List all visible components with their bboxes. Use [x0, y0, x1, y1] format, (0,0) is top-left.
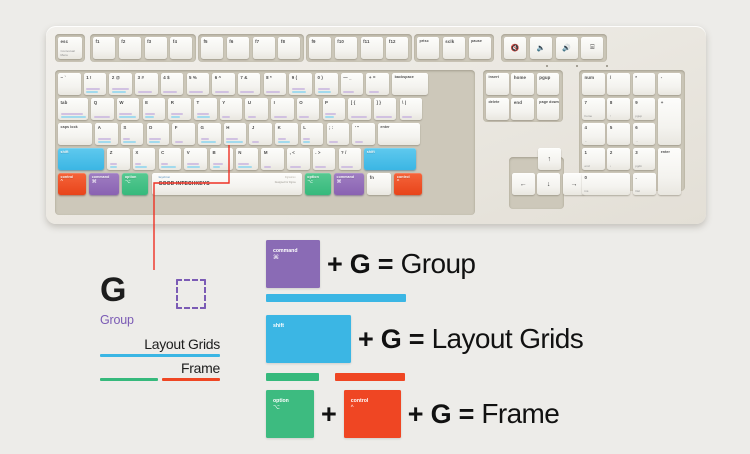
key-hint-bar-1 [163, 91, 177, 93]
key-label: f4 [173, 39, 177, 44]
key-[interactable]: + = [366, 73, 389, 95]
legend-layout-grids-bar [100, 354, 220, 358]
key-control[interactable]: control^ [394, 173, 422, 195]
formula-key-control-symbol: ^ [351, 405, 354, 411]
key-hint-bar-1 [299, 116, 309, 118]
key-f2[interactable]: f2 [119, 37, 141, 59]
formula-result-3: Frame [481, 400, 559, 428]
key-1[interactable]: 1end [582, 148, 605, 170]
key-end[interactable]: end [511, 98, 534, 120]
key-[interactable]: — _ [341, 73, 364, 95]
key-hint-bar-1 [145, 113, 155, 115]
key-label: sclk [445, 39, 454, 44]
key-[interactable]: .Del [633, 173, 656, 195]
key-label: prtsc [420, 39, 429, 44]
key-tab[interactable]: tab [58, 98, 88, 120]
key-symbol: ⌥ [125, 180, 131, 185]
key-label: Q [94, 100, 98, 105]
key-f1[interactable]: f1 [93, 37, 115, 59]
key-k[interactable]: K [275, 123, 298, 145]
key-label: esc [61, 39, 69, 44]
key-2[interactable]: 2 @ [109, 73, 132, 95]
key-[interactable]: ? / [339, 148, 362, 170]
key-hint-bar-1 [329, 141, 338, 143]
key-hint-bar-1 [171, 113, 183, 115]
key-f5[interactable]: f5 [201, 37, 223, 59]
key-sublabel: end [585, 164, 590, 168]
key-label: pgup [539, 75, 550, 80]
key-f7[interactable]: f7 [253, 37, 275, 59]
key-label: tab [61, 100, 68, 105]
key-label: f9 [312, 39, 316, 44]
key-hint-bar-1 [292, 88, 305, 90]
group-dashed-box-icon [176, 279, 206, 309]
key-[interactable]: . > [313, 148, 336, 170]
key-[interactable]: ; : [327, 123, 350, 145]
key-label: ; : [329, 125, 333, 130]
key-3[interactable]: 3pgdn [633, 148, 656, 170]
key-enter[interactable]: enter [658, 148, 681, 195]
key-[interactable]: ' " [352, 123, 375, 145]
key-hint-bar-1 [318, 88, 330, 90]
key-f9[interactable]: f9 [309, 37, 331, 59]
legend-block: G Group Layout Grids Frame [100, 274, 220, 381]
key-p[interactable]: P [323, 98, 346, 120]
key-label: delete [489, 100, 500, 105]
key-label: K [278, 125, 281, 130]
key-s[interactable]: S [121, 123, 144, 145]
key-label: 3 [635, 150, 638, 155]
formula-key-option-label: option [273, 398, 289, 404]
key-hint-bar-1 [369, 91, 379, 93]
formula-key-command-label: command [273, 248, 298, 254]
key-hint-bar-2 [61, 116, 86, 118]
accent-bar-layout-grids [266, 294, 406, 302]
key-q[interactable]: Q [91, 98, 114, 120]
key-label: ~ ` [61, 75, 67, 80]
key-label: 9 [635, 100, 638, 105]
key-x[interactable]: X [133, 148, 156, 170]
key-label: ] } [376, 100, 381, 105]
key-sublabel: ↑ [610, 114, 612, 118]
key-hint-bar-2 [303, 141, 310, 143]
key-label: 0 ) [318, 75, 323, 80]
key-label: caps lock [61, 125, 78, 130]
key-hint-bar-1 [274, 116, 287, 118]
formula-group: command ⌘ + G = Group [266, 240, 475, 288]
key-label: 7 & [240, 75, 247, 80]
key-r[interactable]: R [168, 98, 191, 120]
key-2[interactable]: 2↓ [607, 148, 630, 170]
key-[interactable]: ] } [374, 98, 397, 120]
key-hint-bar-1 [290, 166, 301, 168]
key-hint-bar-2 [201, 141, 216, 143]
key-n[interactable]: N [236, 148, 259, 170]
key-hint-bar-1 [315, 166, 326, 168]
formula-result-1: Group [401, 250, 476, 278]
key-hint-bar-1 [248, 116, 256, 118]
key-label: 4 $ [163, 75, 169, 80]
formula-key-command[interactable]: command ⌘ [266, 240, 320, 288]
key-[interactable]: ↓ [537, 173, 560, 195]
key-hint-bar-2 [119, 116, 136, 118]
key-g[interactable]: G [198, 123, 221, 145]
key-m[interactable]: M [261, 148, 284, 170]
key-5[interactable]: 5 % [187, 73, 210, 95]
key-caps-lock[interactable]: caps lock [58, 123, 92, 145]
key-pause[interactable]: pause [469, 37, 491, 59]
key-symbol: ⌘ [92, 180, 97, 185]
key-label: U [248, 100, 251, 105]
key-d[interactable]: D [147, 123, 170, 145]
key-label: 0 [585, 175, 588, 180]
key-hint-bar-1 [355, 141, 363, 143]
key-hint-bar-1 [213, 163, 223, 165]
key-pgup[interactable]: pgup [537, 73, 560, 95]
screenshot-icon: ⌸ [581, 37, 603, 59]
key-0[interactable]: 0 ) [315, 73, 338, 95]
key-num[interactable]: num [582, 73, 605, 95]
key-hint-bar-2 [197, 116, 210, 118]
key-hint-bar-1 [135, 163, 141, 165]
formula-result-2: Layout Grids [432, 325, 584, 353]
key-label: 9 ( [292, 75, 297, 80]
key-sublabel: home [585, 114, 593, 118]
key-f3[interactable]: f3 [145, 37, 167, 59]
indicator-led-1 [576, 65, 578, 67]
key-label: , < [290, 150, 295, 155]
key-l[interactable]: L [301, 123, 324, 145]
key-label: G [201, 125, 205, 130]
key-label: . > [315, 150, 320, 155]
key-8[interactable]: 8↑ [607, 98, 630, 120]
key-label: f11 [363, 39, 369, 44]
key-hint-bar-1 [278, 138, 286, 140]
key-t[interactable]: T [194, 98, 217, 120]
key-[interactable]: \ | [400, 98, 423, 120]
key-hint-bar-1 [161, 163, 168, 165]
key-f8[interactable]: f8 [278, 37, 300, 59]
key-3[interactable]: 3 # [135, 73, 158, 95]
key-4[interactable]: 4 $ [161, 73, 184, 95]
key-label: 1 ! [86, 75, 91, 80]
key-c[interactable]: C [159, 148, 182, 170]
key-b[interactable]: B [210, 148, 233, 170]
key-sublabel: Contextual Menu [61, 49, 83, 57]
key-[interactable]: 🔊 [556, 37, 578, 59]
key-label: A [98, 125, 101, 130]
key-sublabel: ins [585, 189, 589, 193]
key-hint-bar-1 [189, 91, 203, 93]
key-hint-bar-1 [264, 166, 271, 168]
key-label: insert [489, 75, 499, 80]
key-sublabel: Del [636, 189, 641, 193]
key-f12[interactable]: f12 [386, 37, 408, 59]
key-hint-bar-1 [175, 141, 183, 143]
key-label: — _ [343, 75, 351, 80]
key-hint-bar-1 [119, 113, 132, 115]
key-[interactable]: [ { [348, 98, 371, 120]
key-f6[interactable]: f6 [227, 37, 249, 59]
formula-plus-3a: + [321, 401, 337, 428]
key-label: T [197, 100, 200, 105]
key-hint-bar-2 [213, 166, 220, 168]
key-option[interactable]: option⌥ [122, 173, 148, 195]
key-label: 4 [585, 125, 588, 130]
formula-equals-3: = [459, 401, 475, 428]
key-j[interactable]: J [249, 123, 272, 145]
key-label: H [226, 125, 229, 130]
key-label: end [514, 100, 522, 105]
key-9[interactable]: 9pgup [633, 98, 656, 120]
key-e[interactable]: E [143, 98, 166, 120]
key-label: page down [539, 100, 559, 105]
key-label: 2 [610, 150, 613, 155]
key-label: f7 [255, 39, 259, 44]
key-hint-bar-1 [238, 163, 249, 165]
key-label: f1 [96, 39, 100, 44]
key-0[interactable]: 0ins [582, 173, 630, 195]
key-label: f12 [389, 39, 396, 44]
key-f10[interactable]: f10 [335, 37, 357, 59]
key-symbol: ^ [61, 180, 63, 185]
key-label: J [252, 125, 255, 130]
key-label: shift [367, 150, 375, 155]
key-sublabel: ← [585, 139, 588, 143]
key-v[interactable]: V [184, 148, 207, 170]
key-6[interactable]: 6→ [633, 123, 656, 145]
legend-frame-label: Frame [100, 361, 220, 376]
key-label: f3 [147, 39, 151, 44]
arrow-up-icon: ↑ [538, 148, 561, 170]
key-label: F [175, 125, 178, 130]
key-[interactable]: / [607, 73, 630, 95]
key-sublabel: ↓ [610, 164, 612, 168]
key-[interactable]: 🔇 [504, 37, 526, 59]
key-hint-bar-1 [341, 166, 353, 168]
key-label: f8 [281, 39, 285, 44]
key-[interactable]: ↑ [538, 148, 561, 170]
key-hint-bar-2 [238, 166, 252, 168]
key-symbol: ⌘ [337, 180, 342, 185]
volume-mute-icon: 🔇 [504, 37, 526, 59]
key-i[interactable]: I [271, 98, 294, 120]
key-hint-bar-1 [215, 91, 229, 93]
key-shift[interactable]: shift [58, 148, 104, 170]
key-home[interactable]: home [511, 73, 534, 95]
key-z[interactable]: Z [107, 148, 130, 170]
key-control[interactable]: control^ [58, 173, 86, 195]
key-f[interactable]: F [172, 123, 195, 145]
key-4[interactable]: 4← [582, 123, 605, 145]
key-w[interactable]: W [117, 98, 140, 120]
key-enter[interactable]: enter [378, 123, 420, 145]
key-8[interactable]: 8 * [264, 73, 287, 95]
key-hint-bar-2 [110, 166, 117, 168]
key-label: [ { [351, 100, 356, 105]
key-label: S [123, 125, 126, 130]
key-label: ' " [355, 125, 360, 130]
key-hint-bar-1 [402, 116, 412, 118]
key-label: f5 [204, 39, 208, 44]
key-label: E [145, 100, 148, 105]
formula-key-shift[interactable]: shift [266, 315, 351, 363]
legend-group-label: Group [100, 313, 220, 327]
key-label: 6 ^ [215, 75, 222, 80]
formula-key-control-label: control [351, 398, 369, 404]
key-fn[interactable]: fn [367, 173, 391, 195]
key-[interactable]: * [633, 73, 656, 95]
key-label: Z [110, 150, 113, 155]
legend-frame-bar-right [162, 378, 220, 382]
key-hint-bar-1 [266, 91, 280, 93]
key-hint-bar-2 [145, 116, 154, 118]
arrow-down-icon: ↓ [537, 173, 560, 195]
key-hint-bar-1 [222, 116, 230, 118]
key-label: f10 [337, 39, 344, 44]
key-label: 1 [585, 150, 588, 155]
accent-bar-frame-left [266, 373, 319, 381]
key-[interactable]: ← [512, 173, 535, 195]
key-[interactable]: ⌸ [581, 37, 603, 59]
key-label: 7 [585, 100, 588, 105]
key-symbol: ⌥ [307, 180, 313, 185]
legend-frame-bar-left [100, 378, 158, 382]
key-command[interactable]: command⌘ [334, 173, 364, 195]
key-h[interactable]: H [224, 123, 247, 145]
key-9[interactable]: 9 ( [289, 73, 312, 95]
key-label: enter [661, 150, 670, 155]
key-hint-bar-1 [110, 163, 117, 165]
key-label: / [610, 75, 611, 80]
key-label: 6 [635, 125, 638, 130]
key-6[interactable]: 6 ^ [212, 73, 235, 95]
key-f11[interactable]: f11 [361, 37, 383, 59]
volume-up-icon: 🔊 [556, 37, 578, 59]
key-label: Y [222, 100, 225, 105]
key-label: V [187, 150, 190, 155]
key-esc[interactable]: escContextual Menu [58, 37, 82, 59]
key-hint-bar-2 [161, 166, 176, 168]
key-label: 5 [610, 125, 613, 130]
key-hint-bar-1 [343, 91, 354, 93]
key-label: P [325, 100, 328, 105]
key-label: C [161, 150, 164, 155]
key-a[interactable]: A [95, 123, 118, 145]
key-5[interactable]: 5 [607, 123, 630, 145]
key-u[interactable]: U [245, 98, 268, 120]
key-prtsc[interactable]: prtsc [417, 37, 439, 59]
spacebar-brand-right-sub: Designed for Figma [275, 181, 296, 184]
key-hint-bar-2 [149, 141, 160, 143]
key-label: + = [369, 75, 376, 80]
key-label: home [514, 75, 526, 80]
keyboard-body: escContextual Menuf1f2f3f4f5f6f7f8f9f10f… [46, 26, 706, 224]
key-hint-bar-1 [94, 116, 110, 118]
formula-equals-1: = [378, 251, 394, 278]
key-backspace[interactable]: backspace [392, 73, 428, 95]
formula-equals-2: = [409, 326, 425, 353]
key-sclk[interactable]: sclk [443, 37, 465, 59]
key-option[interactable]: option⌥ [305, 173, 331, 195]
key-hint-bar-2 [86, 91, 98, 93]
key-label: W [119, 100, 123, 105]
key-label: 8 [610, 100, 613, 105]
key-label: O [299, 100, 303, 105]
key-space[interactable]: keychronGOOD INTECHKEYSFigmatronDesigned… [152, 173, 302, 195]
key-[interactable]: + [658, 98, 681, 145]
key-label: D [149, 125, 152, 130]
key-label: X [135, 150, 138, 155]
key-7[interactable]: 7 & [238, 73, 261, 95]
key-hint-bar-1 [325, 113, 336, 115]
key-shift[interactable]: shift [364, 148, 416, 170]
key-hint-bar-2 [112, 91, 126, 93]
key-hint-bar-1 [240, 91, 254, 93]
legend-layout-grids-label: Layout Grids [100, 337, 220, 352]
key-hint-bar-2 [123, 141, 136, 143]
key-f4[interactable]: f4 [170, 37, 192, 59]
key-label: \ | [402, 100, 406, 105]
key-label: N [238, 150, 241, 155]
key-7[interactable]: 7home [582, 98, 605, 120]
key-hint-bar-1 [149, 138, 161, 140]
key-y[interactable]: Y [220, 98, 243, 120]
key-hint-bar-2 [318, 91, 331, 93]
key-hint-bar-1 [303, 138, 310, 140]
key-[interactable]: 🔈 [530, 37, 552, 59]
key-[interactable]: - [658, 73, 681, 95]
indicator-led-0 [546, 65, 548, 67]
page-root: escContextual Menuf1f2f3f4f5f6f7f8f9f10f… [0, 0, 750, 454]
formula-key-control[interactable]: control ^ [344, 390, 401, 438]
spacebar-brand-main: GOOD INTECHKEYS [159, 181, 210, 187]
key-insert[interactable]: insert [486, 73, 509, 95]
key-page-down[interactable]: page down [537, 98, 560, 120]
key-[interactable]: , < [287, 148, 310, 170]
key-hint-bar-1 [376, 116, 392, 118]
key-[interactable]: ~ ` [58, 73, 81, 95]
formula-letter-1: G [350, 251, 371, 278]
key-symbol: ^ [397, 180, 399, 185]
key-label: + [661, 100, 664, 105]
key-hint-bar-1 [61, 113, 83, 115]
key-hint-bar-1 [98, 138, 111, 140]
key-hint-bar-2 [325, 116, 334, 118]
key-hint-bar-1 [138, 91, 152, 93]
key-label: ? / [341, 150, 346, 155]
key-label: 2 @ [112, 75, 120, 80]
formula-plus-2: + [358, 326, 374, 353]
key-label: R [171, 100, 174, 105]
key-command[interactable]: command⌘ [89, 173, 119, 195]
key-label: shift [61, 150, 69, 155]
key-label: pause [471, 39, 482, 44]
formula-key-option[interactable]: option ⌥ [266, 390, 314, 438]
key-sublabel: pgdn [635, 164, 642, 168]
key-label: . [636, 175, 637, 180]
formula-layout-grids: shift + G = Layout Grids [266, 315, 583, 363]
key-1[interactable]: 1 ! [84, 73, 107, 95]
key-delete[interactable]: delete [486, 98, 509, 120]
key-hint-bar-1 [201, 138, 209, 140]
key-label: enter [380, 125, 389, 130]
key-hint-bar-1 [197, 113, 209, 115]
key-o[interactable]: O [297, 98, 320, 120]
arrow-left-icon: ← [512, 173, 535, 195]
key-hint-bar-1 [351, 116, 367, 118]
key-label: f6 [229, 39, 233, 44]
